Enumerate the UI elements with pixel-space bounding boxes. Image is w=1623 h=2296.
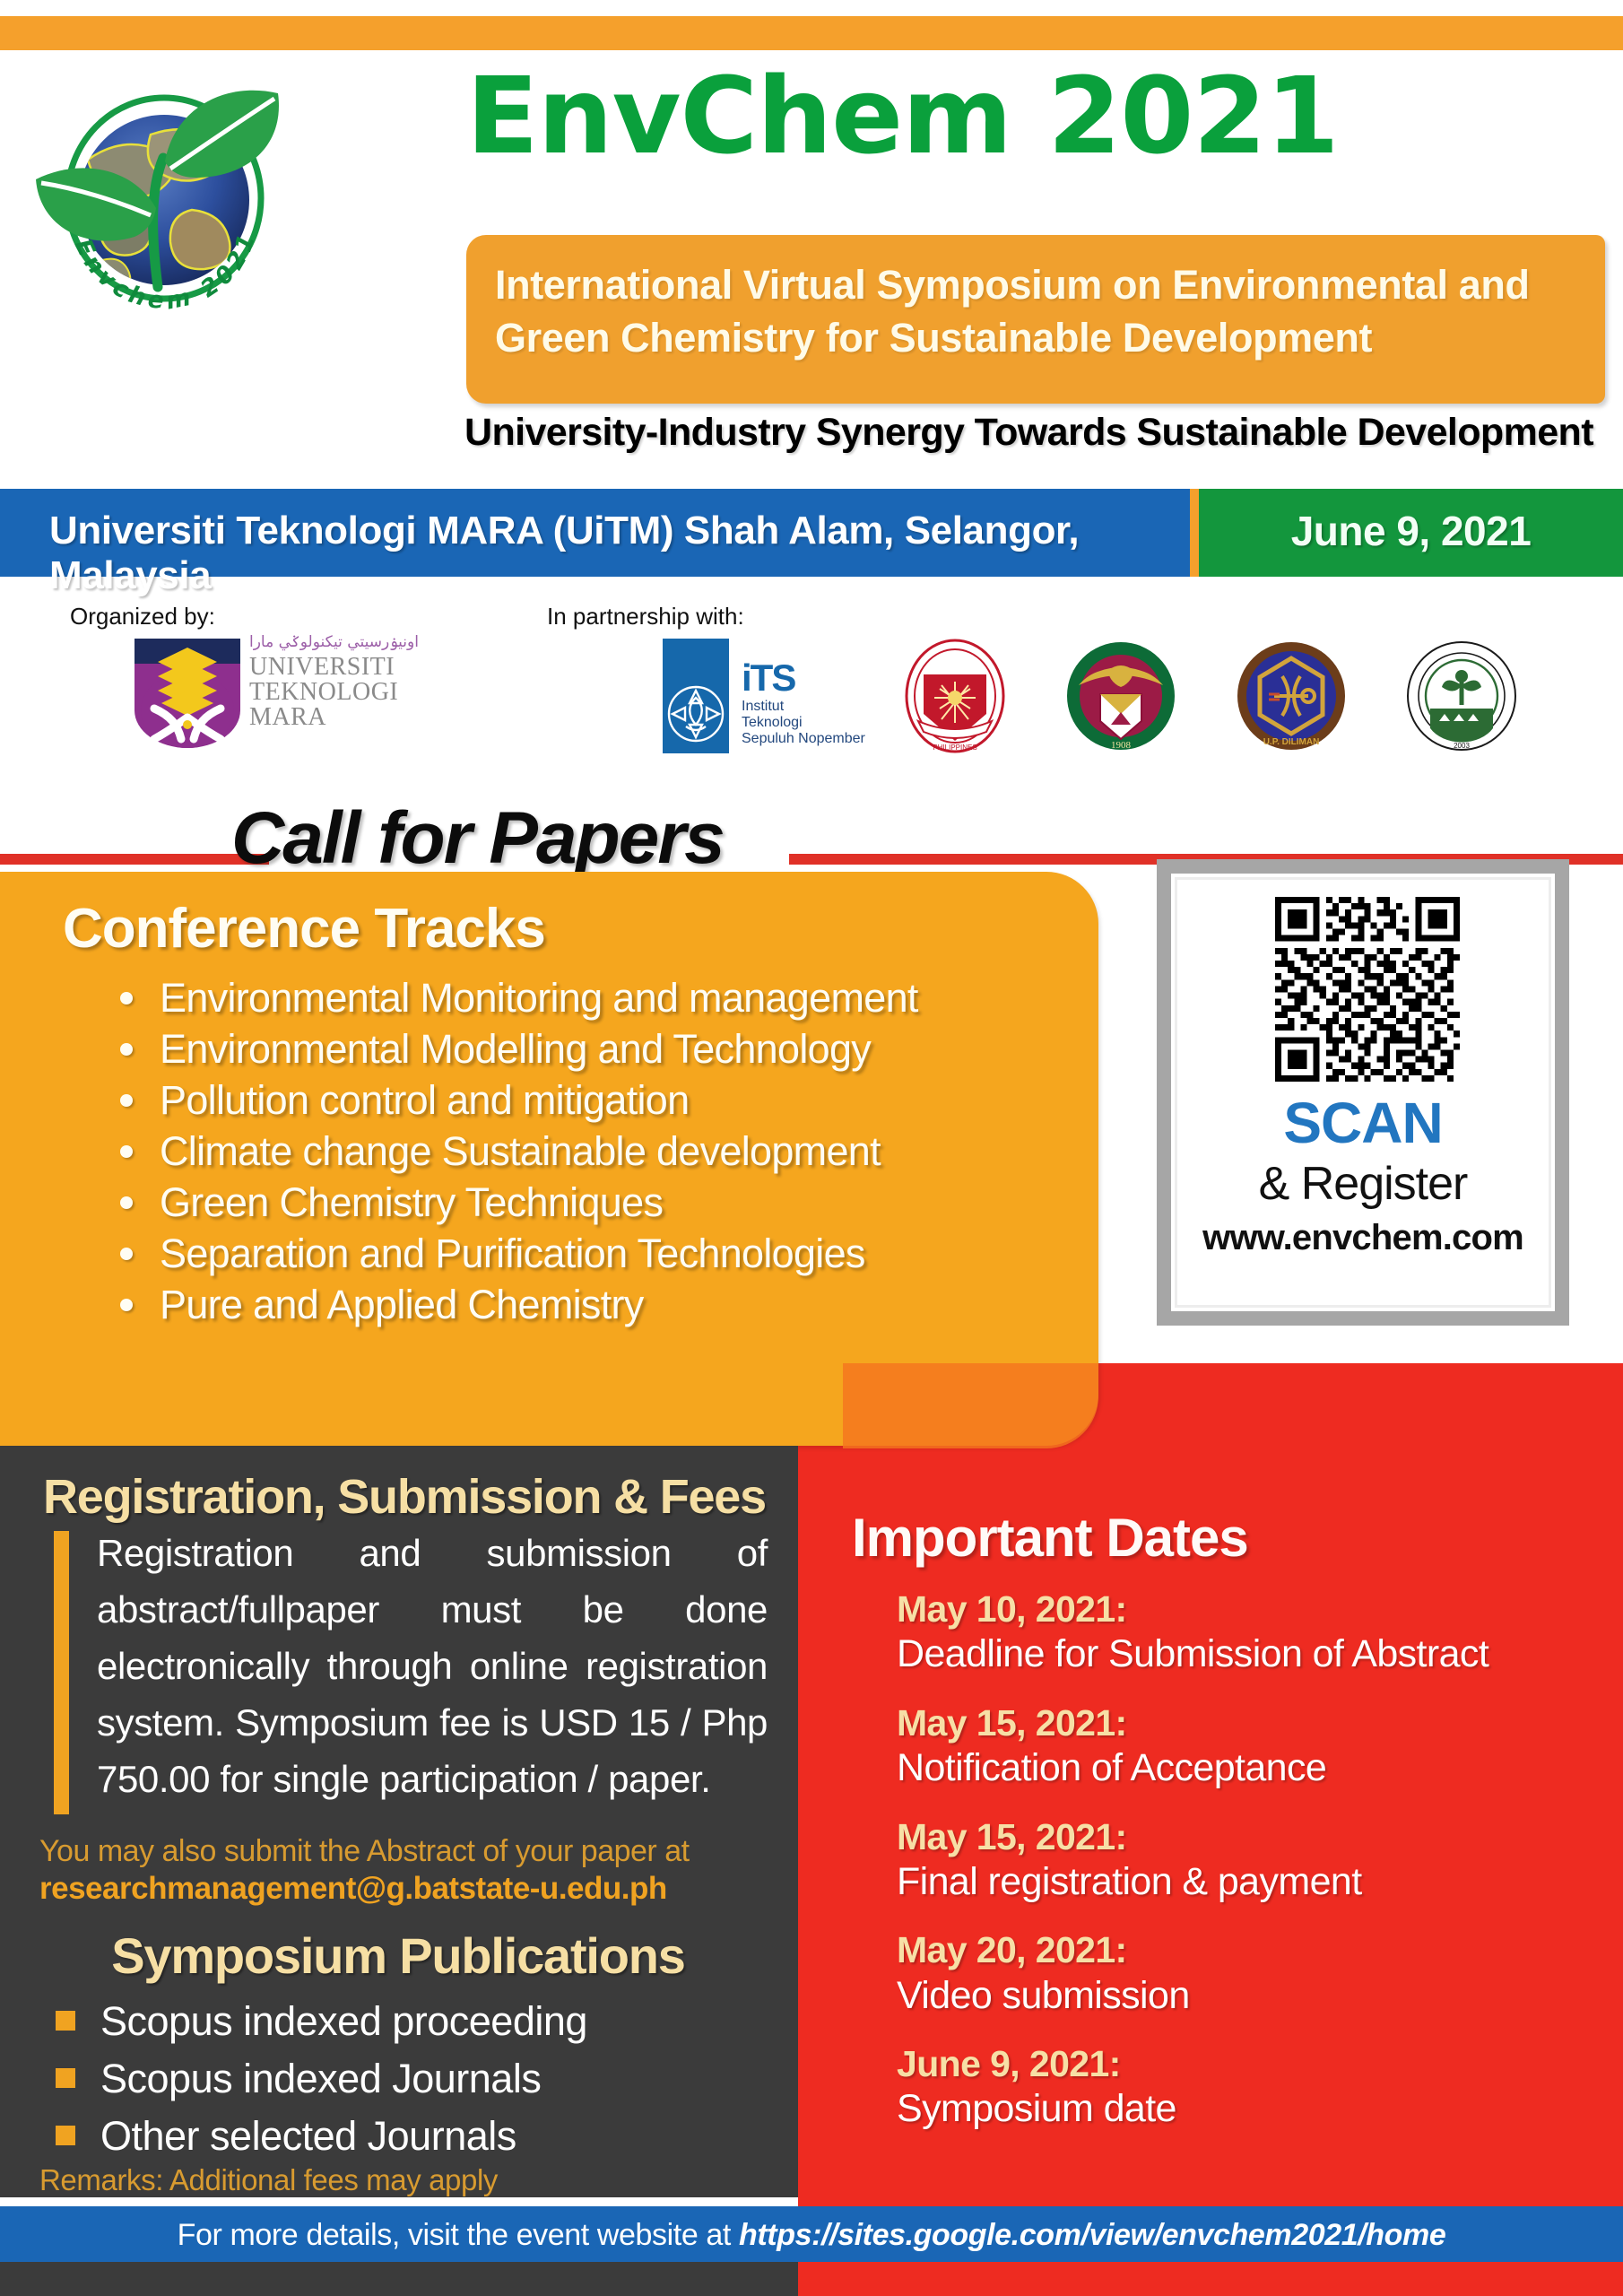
svg-text:Institut: Institut xyxy=(742,699,785,714)
date-label: Symposium date xyxy=(897,2086,1605,2133)
date-label: Notification of Acceptance xyxy=(897,1745,1605,1792)
svg-text:PHILIPPINES: PHILIPPINES xyxy=(933,744,976,752)
date-entry: June 9, 2021: Symposium date xyxy=(897,2042,1605,2133)
date-label: Video submission xyxy=(897,1973,1605,2020)
abstract-submit-note: You may also submit the Abstract of your… xyxy=(39,1834,784,1869)
date-value: June 9, 2021: xyxy=(897,2042,1605,2086)
registration-heading: Registration, Submission & Fees xyxy=(43,1469,778,1525)
svg-text:Sepuluh Nopember: Sepuluh Nopember xyxy=(742,731,866,746)
footer-text: For more details, visit the event websit… xyxy=(0,2206,1623,2253)
svg-text:iTS: iTS xyxy=(742,657,795,699)
uitm-jawi-text: اونيۏرسيتي تيكنولوݢي مارا xyxy=(249,635,429,655)
register-url[interactable]: www.envchem.com xyxy=(1175,1218,1551,1258)
list-item: Scopus indexed proceeding xyxy=(50,1998,768,2045)
list-item: Green Chemistry Techniques xyxy=(108,1182,1076,1222)
event-date-box: June 9, 2021 xyxy=(1199,489,1623,577)
uitm-wordmark: اونيۏرسيتي تيكنولوݢي مارا UNIVERSITI TEK… xyxy=(249,635,429,730)
partner-logo-institute-of-environmental-science-meteorology: 2003 xyxy=(1403,639,1520,753)
footer-prefix: For more details, visit the event websit… xyxy=(178,2218,739,2252)
footer-url[interactable]: https://sites.google.com/view/envchem202… xyxy=(739,2218,1445,2252)
publications-heading: Symposium Publications xyxy=(39,1926,757,1985)
abstract-submit-email[interactable]: researchmanagement@g.batstate-u.edu.ph xyxy=(39,1871,784,1907)
strip-divider xyxy=(1190,489,1199,577)
list-item: Other selected Journals xyxy=(50,2113,768,2160)
date-entry: May 10, 2021: Deadline for Submission of… xyxy=(897,1587,1605,1678)
partner-logo-college-of-science: U.P. DILIMAN xyxy=(1233,639,1350,753)
date-value: May 10, 2021: xyxy=(897,1587,1605,1631)
list-item: Separation and Purification Technologies xyxy=(108,1233,1076,1274)
list-item: Environmental Monitoring and management xyxy=(108,978,1076,1018)
svg-text:1908: 1908 xyxy=(1111,740,1132,751)
list-item: Environmental Modelling and Technology xyxy=(108,1029,1076,1069)
venue-text: Universiti Teknologi MARA (UiTM) Shah Al… xyxy=(0,489,1190,598)
orange-red-overlap-shape xyxy=(843,1363,1098,1448)
page-title: EnvChem 2021 xyxy=(466,63,1533,169)
list-item: Pollution control and mitigation xyxy=(108,1080,1076,1120)
uitm-logo: اونيۏرسيتي تيكنولوݢي مارا UNIVERSITI TEK… xyxy=(135,635,421,752)
bottom-strip-dark xyxy=(0,2262,798,2296)
date-label: Deadline for Submission of Abstract xyxy=(897,1631,1605,1678)
date-value: May 15, 2021: xyxy=(897,1701,1605,1745)
uitm-crest-icon xyxy=(135,639,240,748)
event-date-text: June 9, 2021 xyxy=(1199,489,1623,555)
uitm-name-line-1: UNIVERSITI xyxy=(249,655,429,680)
tagline: University-Industry Synergy Towards Sust… xyxy=(464,411,1612,455)
svg-text:Teknologi: Teknologi xyxy=(742,715,803,730)
important-dates-list: May 10, 2021: Deadline for Submission of… xyxy=(897,1587,1605,2156)
list-item: Scopus indexed Journals xyxy=(50,2056,768,2102)
date-entry: May 15, 2021: Notification of Acceptance xyxy=(897,1701,1605,1792)
scan-label: SCAN xyxy=(1175,1090,1551,1156)
date-entry: May 15, 2021: Final registration & payme… xyxy=(897,1815,1605,1906)
uitm-name-line-3: MARA xyxy=(249,705,429,730)
date-value: May 15, 2021: xyxy=(897,1815,1605,1859)
publications-remarks: Remarks: Additional fees may apply xyxy=(39,2163,775,2197)
list-item: Climate change Sustainable development xyxy=(108,1131,1076,1171)
date-entry: May 20, 2021: Video submission xyxy=(897,1928,1605,2019)
envchem-globe-leaf-logo: Envchem 2021 xyxy=(16,52,303,312)
venue-box: Universiti Teknologi MARA (UiTM) Shah Al… xyxy=(0,489,1190,577)
subtitle-banner: International Virtual Symposium on Envir… xyxy=(466,235,1605,404)
date-label: Final registration & payment xyxy=(897,1859,1605,1906)
qr-code-icon[interactable] xyxy=(1275,897,1460,1082)
venue-date-strip: Universiti Teknologi MARA (UiTM) Shah Al… xyxy=(0,489,1623,577)
partner-logo-batangas-state-university: PHILIPPINES xyxy=(897,639,1013,753)
call-for-papers-title: Call for Papers xyxy=(231,796,787,881)
important-dates-heading: Important Dates xyxy=(852,1507,1248,1569)
organized-by-label: Organized by: xyxy=(70,603,215,631)
footer-bar: For more details, visit the event websit… xyxy=(0,2206,1623,2262)
publications-list: Scopus indexed proceeding Scopus indexed… xyxy=(50,1998,768,2170)
list-item: Pure and Applied Chemistry xyxy=(108,1284,1076,1325)
conference-tracks-heading: Conference Tracks xyxy=(63,897,545,961)
partner-logo-university-of-the-philippines: 1908 xyxy=(1063,639,1179,753)
subtitle-text: International Virtual Symposium on Envir… xyxy=(466,235,1605,365)
conference-tracks-list: Environmental Monitoring and management … xyxy=(108,978,1076,1335)
partner-logo-its: iTS Institut Teknologi Sepuluh Nopember xyxy=(659,639,883,753)
bottom-strip-red xyxy=(798,2262,1623,2296)
uitm-name-line-2: TEKNOLOGI xyxy=(249,680,429,705)
svg-text:U.P. DILIMAN: U.P. DILIMAN xyxy=(1263,737,1320,747)
svg-text:2003: 2003 xyxy=(1454,742,1470,750)
register-label: & Register xyxy=(1175,1157,1551,1211)
in-partnership-with-label: In partnership with: xyxy=(547,603,744,631)
cfp-rule-left xyxy=(0,854,269,865)
top-orange-rule xyxy=(0,16,1623,50)
conference-poster: Envchem 2021 EnvChem 2021 International … xyxy=(0,0,1623,2296)
date-value: May 20, 2021: xyxy=(897,1928,1605,1972)
registration-accent-bar xyxy=(54,1531,69,1814)
registration-body-text: Registration and submission of abstract/… xyxy=(97,1525,768,1807)
